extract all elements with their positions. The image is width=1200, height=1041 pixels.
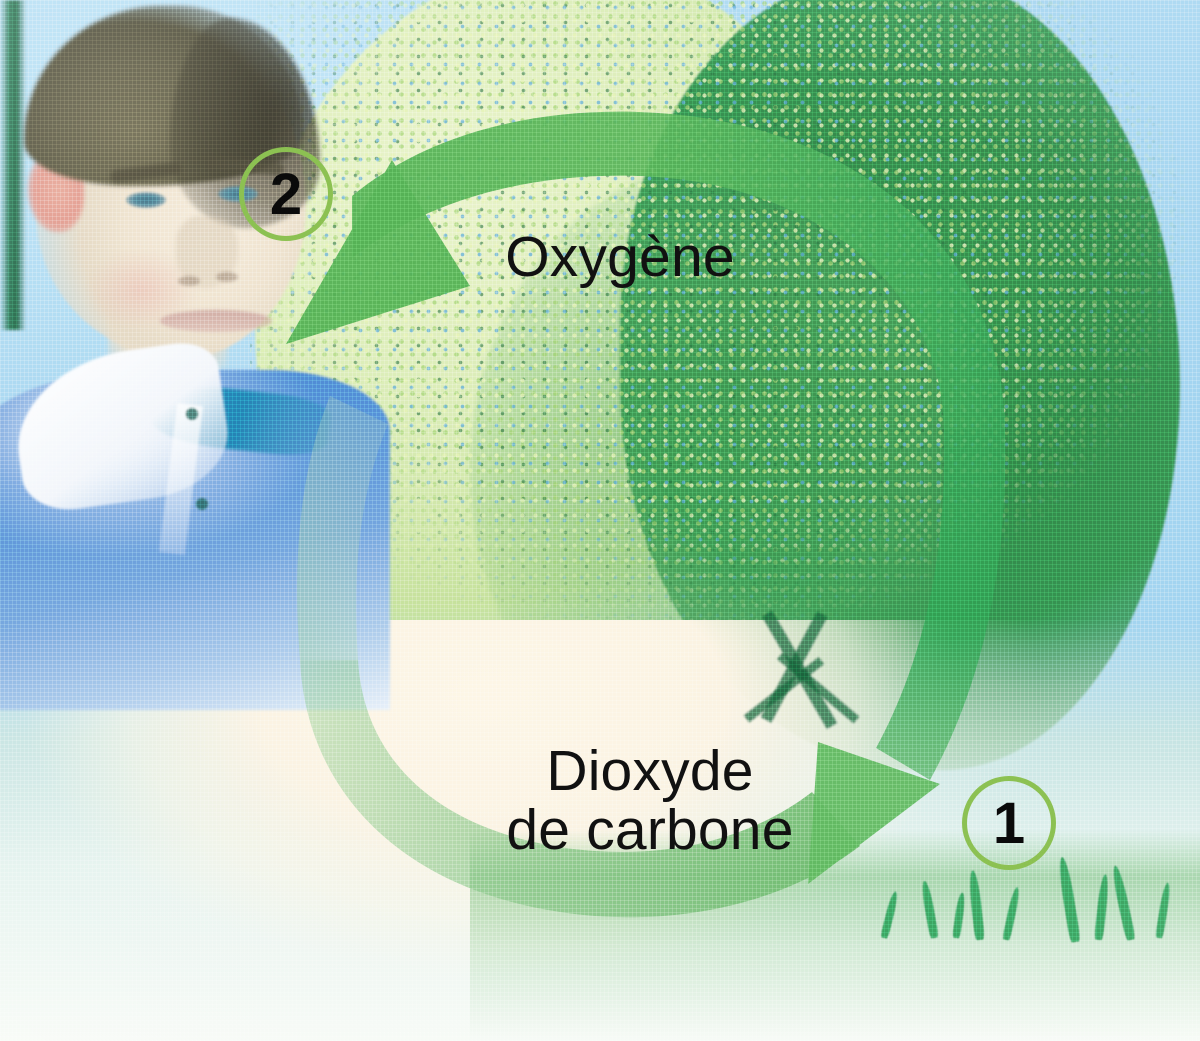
cycle-left-band [297,396,388,660]
cycle-right-band [876,430,1005,780]
cycle-arrows [0,0,1200,1041]
label-carbon-dioxide-line-2: de carbone [506,798,793,862]
label-oxygen: Oxygène [455,228,785,287]
label-carbon-dioxide: Dioxydede carbone [470,742,830,861]
step-marker-1: 1 [962,776,1056,870]
illustration-carbon-cycle: Oxygène Dioxydede carbone 2 1 [0,0,1200,1041]
step-marker-2: 2 [239,147,333,241]
label-carbon-dioxide-line-1: Dioxyde [546,739,753,803]
